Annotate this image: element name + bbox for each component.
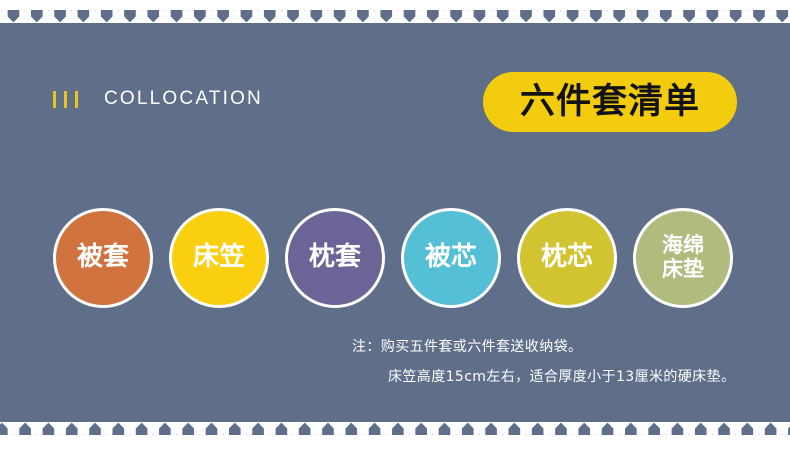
item-circle-label: 枕套	[309, 244, 361, 272]
item-circle[interactable]: 海绵 床垫	[633, 208, 733, 308]
note-block: 注：购买五件套或六件套送收纳袋。 床笠高度15cm左右，适合厚度小于13厘米的硬…	[352, 340, 762, 384]
item-circle-label: 床笠	[193, 244, 245, 272]
promo-banner: COLLOCATION 六件套清单 被套 床笠 枕套 被芯 枕芯 海绵 床垫 注…	[0, 0, 790, 468]
item-circle-label: 被芯	[425, 244, 477, 272]
note-line-2: 床笠高度15cm左右，适合厚度小于13厘米的硬床垫。	[388, 370, 762, 384]
title-pill: 六件套清单	[483, 72, 737, 132]
item-circle[interactable]: 被芯	[401, 208, 501, 308]
title-pill-label: 六件套清单	[520, 85, 700, 120]
note-line-1: 注：购买五件套或六件套送收纳袋。	[352, 340, 762, 354]
item-circle-label: 枕芯	[541, 244, 593, 272]
eyebrow-group: COLLOCATION	[53, 88, 263, 110]
item-circle[interactable]: 枕套	[285, 208, 385, 308]
accent-bars-icon	[53, 91, 78, 108]
banner-header: COLLOCATION 六件套清单	[0, 72, 790, 138]
item-circle[interactable]: 被套	[53, 208, 153, 308]
item-circle-label: 海绵 床垫	[662, 234, 704, 282]
item-circle-list: 被套 床笠 枕套 被芯 枕芯 海绵 床垫	[53, 205, 743, 311]
item-circle[interactable]: 床笠	[169, 208, 269, 308]
item-circle[interactable]: 枕芯	[517, 208, 617, 308]
eyebrow-label: COLLOCATION	[104, 88, 263, 110]
item-circle-label: 被套	[77, 244, 129, 272]
zigzag-top-edge	[0, 10, 790, 23]
zigzag-bottom-edge	[0, 422, 790, 435]
